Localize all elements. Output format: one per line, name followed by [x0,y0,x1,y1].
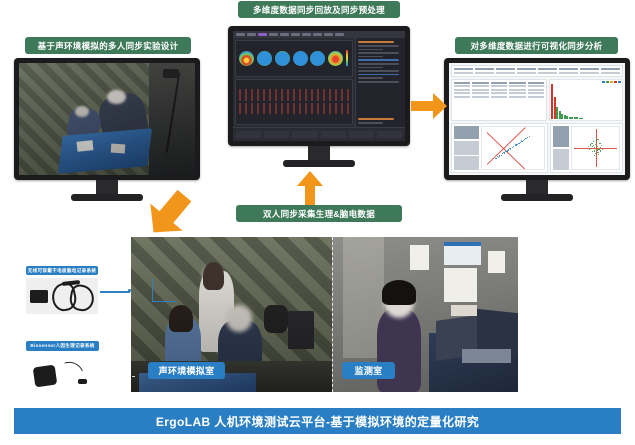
table-header-cell [601,68,620,70]
participant-b [65,104,104,144]
eeg-topomap-panel [235,40,353,77]
assistant-face [203,266,221,286]
table-header-cell [517,68,536,70]
biosensor-electrode-icon [78,379,87,384]
biosensor-body-icon [33,365,58,388]
table-cell [491,96,507,98]
monitor-left-neck [96,180,118,194]
timeline-segment[interactable] [264,131,289,138]
monitor-left-base [71,194,143,201]
label-left-monitor: 基于声环境模拟的多人同步实验设计 [25,37,191,54]
middle-section [451,79,623,121]
scatter-plot-green[interactable] [571,126,620,170]
chair-black [288,311,314,348]
side-panel-row [358,59,400,61]
table-header-cell [580,68,599,70]
monitor-right [444,58,630,201]
menu-item[interactable] [247,33,256,36]
menu-item[interactable] [313,33,322,36]
table-cell [580,72,599,74]
biosensor-cable-icon [52,357,88,392]
slide-title-text: ErgoLAB 人机环境测试云平台-基于模拟环境的定量化研究 [156,413,479,430]
topomap-gamma[interactable] [310,51,325,66]
menu-item[interactable] [324,33,333,36]
equipment-bag [264,305,288,333]
cluster-stats [553,126,569,170]
side-panel-row [358,70,400,72]
photo-anechoic-topview [19,63,195,175]
badge-chamber-text: 声环境模拟室 [159,364,215,377]
operator-hair [382,280,415,305]
stat-row [454,126,479,140]
wall-notice-4 [488,251,505,273]
monitor-center-neck [308,146,330,160]
table-cell [454,85,470,87]
badge-control-room: 监测室 [342,362,395,379]
histogram-legend [602,81,621,84]
eeg-amplifier-icon [30,290,48,303]
table-header-cell [496,68,515,70]
label-center-bottom: 双人同步采集生理&脑电数据 [236,205,402,222]
table-row [454,72,620,74]
legend-swatch [614,81,617,84]
dashboard-main-column [233,38,355,127]
menu-item[interactable] [302,33,311,36]
callout-dot-eeg [128,289,131,292]
monitor-center [228,26,410,167]
detail-table [451,79,547,121]
device-thumb-biosensor [30,358,100,392]
menu-item[interactable] [291,33,300,36]
table-header-cell [528,82,544,84]
menu-item[interactable] [335,33,344,36]
menu-item[interactable] [280,33,289,36]
table-cell [509,92,525,94]
physiology-waveform-panel [235,79,353,125]
table-header-cell [509,82,525,84]
callout-elbow-eeg [152,279,177,302]
table-row [454,89,544,91]
table-row [454,68,620,70]
monitor-right-neck [526,180,548,194]
operator-body [377,310,422,392]
experiment-table [58,129,152,175]
dashboard-side-panel [355,38,405,127]
label-left-monitor-text: 基于声环境模拟的多人同步实验设计 [38,40,179,52]
assistant-hair [203,262,223,290]
table-row [454,96,544,98]
table-cell [528,92,544,94]
label-right-monitor-text: 对多维度数据进行可视化同步分析 [470,40,602,52]
table-cell [528,96,544,98]
participant-a-head [107,90,126,105]
table-cell [491,92,507,94]
table-cell [538,72,557,74]
scatter-correlation-card [451,123,548,173]
timeline-segment[interactable] [236,131,261,138]
table-cell [517,72,536,74]
paper-sheet-2 [110,143,125,153]
callout-line-eeg [100,291,130,293]
arrow-photo-to-center-icon [296,170,324,210]
label-center-monitor: 多维度数据同步回放及同步预处理 [238,1,400,18]
arrow-center-to-right-icon [410,92,448,120]
table-cell [472,89,488,91]
side-panel-row [358,63,400,65]
monitor-right-bezel [444,58,630,180]
table-header-cell [559,68,578,70]
arrow-left-to-photo-icon [140,188,198,240]
topomap-alpha[interactable] [275,51,290,66]
waveform-ecg-1[interactable] [238,89,350,101]
menu-item[interactable] [269,33,278,36]
keyboard [462,349,510,363]
badge-control-room-text: 监测室 [355,364,383,377]
table-header-cell [475,68,494,70]
photo-experiment-rooms: 声环境模拟室 监测室 [131,237,518,392]
wall-notice-1 [410,245,429,270]
monitor-center-base [283,160,355,167]
monitor-left-screen [19,63,195,175]
side-panel-row [358,77,383,79]
table-cell [454,89,470,91]
side-panel-footer-title [358,118,394,121]
table-header-cell [454,82,470,84]
topomap-colorbar [346,50,349,66]
scatter-plot-blue[interactable] [481,126,545,170]
ergolab-analysis-dashboard [449,63,625,175]
participant-a [96,91,149,143]
table-cell [601,72,620,74]
table-cell [472,96,488,98]
monitor-center-bezel [228,26,410,146]
histogram-bar [581,118,583,119]
participant-seated-center [218,321,262,392]
legend-swatch [610,81,613,84]
assistant-standing [199,271,233,352]
participant-b-head [75,106,89,117]
table-cell [509,85,525,87]
monitor-left [14,58,200,201]
timeline-segment[interactable] [321,131,346,138]
timeline-segment[interactable] [349,131,374,138]
label-center-bottom-text: 双人同步采集生理&脑电数据 [263,208,375,220]
topomap-theta[interactable] [257,51,272,66]
paper-sheet-1 [77,141,94,153]
table-cell [491,89,507,91]
device-label-eeg: 无线可穿戴干电极脑电记录系统 [26,266,98,275]
side-panel-row [358,74,400,76]
stat-row [454,156,479,170]
slide-canvas: 多维度数据同步回放及同步预处理 基于声环境模拟的多人同步实验设计 对多维度数据进… [0,0,635,445]
wall-notice-2 [444,246,481,265]
table-row [454,85,544,87]
dashboard-body [233,38,405,127]
menu-item-active[interactable] [258,33,267,36]
device-label-eeg-text: 无线可穿戴干电极脑电记录系统 [28,268,97,274]
table-cell [475,72,494,74]
device-thumb-eeg [26,278,98,314]
topomap-delta[interactable] [239,51,254,66]
badge-chamber: 声环境模拟室 [148,362,225,379]
regression-line [487,127,526,164]
bottom-section [451,123,623,173]
table-cell [528,85,544,87]
table-cell [496,72,515,74]
topomap-row [238,50,350,66]
tripod-stand [166,72,180,152]
waveform-ecg-2[interactable] [238,103,350,114]
legend-swatch [606,81,609,84]
wall-notice-3 [444,268,477,302]
ergolab-playback-dashboard [233,31,405,141]
table-header-cell [538,68,557,70]
side-panel-row [358,49,383,51]
topomap-beta[interactable] [293,51,308,66]
histogram-chart[interactable] [549,79,623,121]
table-cell [454,72,473,74]
device-label-biosensor-text: Biosensor人因生理记录系统 [30,343,94,349]
stat-row [553,149,569,170]
room-divider [332,237,333,392]
table-cell [509,96,525,98]
table-header-cell [454,68,473,70]
timeline-segment[interactable] [377,131,402,138]
legend-swatch [602,81,605,84]
table-cell [472,92,488,94]
summary-table [451,65,623,77]
monitor-right-screen [449,63,625,175]
monitor-right-base [501,194,573,201]
slide-title-bar: ErgoLAB 人机环境测试云平台-基于模拟环境的定量化研究 [14,408,621,434]
table-cell [454,92,470,94]
camera-head [163,69,179,78]
wall-banner-blue [444,242,481,247]
table-header-cell [472,82,488,84]
desk-papers [451,305,477,316]
table-cell [454,96,470,98]
table-cell [528,89,544,91]
table-row [454,82,544,84]
side-panel-row [358,45,400,47]
monitor-left-bezel [14,58,200,180]
table-row [454,92,544,94]
table-cell [472,85,488,87]
table-cell [559,72,578,74]
side-panel-row [358,81,400,83]
timeline-segment[interactable] [292,131,317,138]
side-panel-row [358,52,400,54]
dashboard-timeline[interactable] [233,127,405,141]
axis-horizontal [574,148,616,149]
side-panel-row [358,122,383,124]
stat-row [553,126,569,147]
callout-line-biosensor [100,376,135,377]
floor-area [149,63,195,175]
side-panel-title [358,41,394,44]
dashboard-menubar [233,31,405,38]
device-label-biosensor: Biosensor人因生理记录系统 [26,341,99,351]
label-center-monitor-text: 多维度数据同步回放及同步预处理 [253,4,385,16]
table-cell [491,85,507,87]
scatter-cluster-card [550,123,623,173]
topomap-total[interactable] [328,51,343,66]
side-panel-row [358,56,383,58]
side-panel-row [358,67,383,69]
legend-swatch [618,81,621,84]
monitor-center-screen [233,31,405,141]
participant-seated-center-face [226,305,252,331]
label-right-monitor: 对多维度数据进行可视化同步分析 [455,37,618,54]
scatter-stats [454,126,479,170]
stat-row [454,141,479,155]
participant-seated-left-hair [169,305,193,331]
table-header-cell [491,82,507,84]
menu-item[interactable] [236,33,245,36]
table-cell [509,89,525,91]
